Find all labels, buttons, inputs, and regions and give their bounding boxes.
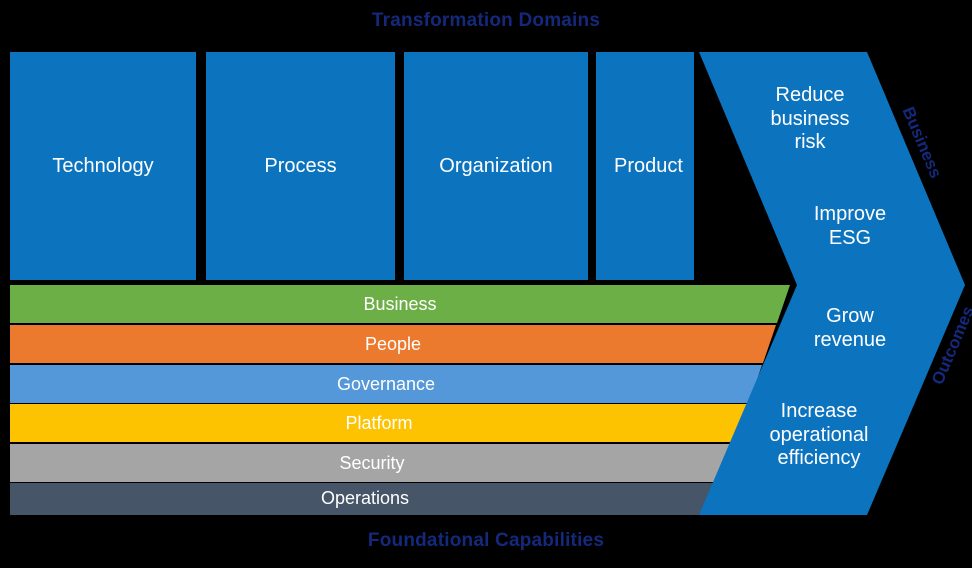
- outcome-reduce-business-risk: Reduce business risk: [745, 84, 875, 155]
- domain-label-product: Product: [596, 155, 701, 178]
- capability-label-governance: Governance: [10, 375, 762, 393]
- domain-label-technology: Technology: [10, 155, 196, 178]
- outcome-line: revenue: [790, 329, 910, 353]
- outcome-line: Improve: [790, 203, 910, 227]
- outcome-line: Grow: [790, 305, 910, 329]
- outcome-line: operational: [745, 424, 893, 448]
- page-title-transformation-domains: Transformation Domains: [0, 10, 972, 32]
- capability-label-operations: Operations: [10, 489, 720, 507]
- outcome-line: efficiency: [745, 447, 893, 471]
- capability-label-platform: Platform: [10, 414, 748, 432]
- capability-label-security: Security: [10, 454, 734, 472]
- domain-label-process: Process: [206, 155, 395, 178]
- outcome-improve-esg: Improve ESG: [790, 203, 910, 250]
- outcome-line: Increase: [745, 400, 893, 424]
- outcome-line: Reduce: [745, 84, 875, 108]
- outcome-grow-revenue: Grow revenue: [790, 305, 910, 352]
- capability-label-people: People: [10, 335, 776, 353]
- outcome-line: risk: [745, 131, 875, 155]
- outcome-increase-operational-efficiency: Increase operational efficiency: [745, 400, 893, 471]
- domain-label-organization: Organization: [404, 155, 588, 178]
- diagram-canvas: Transformation Domains Foundational Capa…: [0, 0, 972, 568]
- page-title-foundational-capabilities: Foundational Capabilities: [0, 530, 972, 552]
- capability-label-business: Business: [10, 295, 790, 313]
- outcome-line: business: [745, 108, 875, 132]
- outcome-line: ESG: [790, 227, 910, 251]
